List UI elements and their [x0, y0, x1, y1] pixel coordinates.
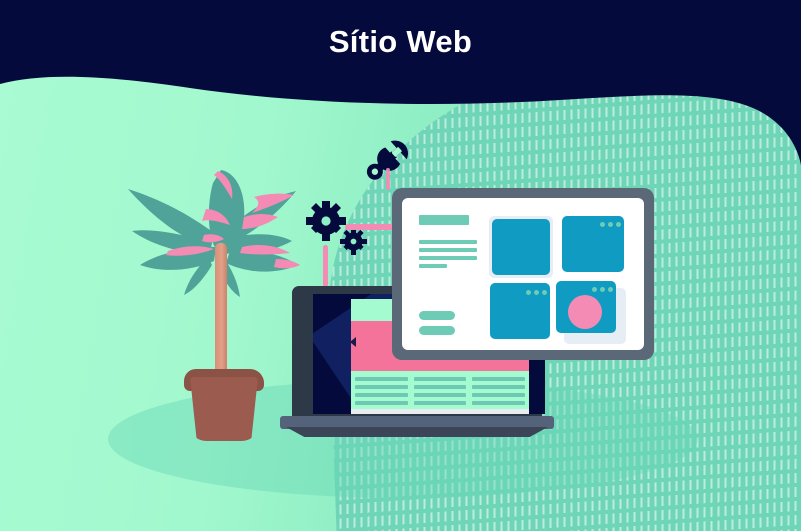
- sidebar-text-line: [419, 240, 477, 244]
- card-dot-icon: [616, 222, 621, 227]
- text-line: [414, 393, 467, 397]
- text-line: [414, 401, 467, 405]
- text-line: [355, 377, 408, 381]
- card-dot-icon: [600, 222, 605, 227]
- sidebar-button[interactable]: [419, 311, 455, 320]
- text-line: [472, 377, 525, 381]
- card-dot-icon: [526, 290, 531, 295]
- card-dot-icon: [542, 290, 547, 295]
- text-line: [472, 385, 525, 389]
- carousel-prev-icon[interactable]: [351, 337, 356, 347]
- content-card-3[interactable]: [490, 283, 550, 339]
- plant-stem: [215, 243, 227, 385]
- sidebar-heading-bar: [419, 215, 469, 225]
- content-card-1[interactable]: [492, 219, 550, 275]
- content-card-2[interactable]: [562, 216, 624, 272]
- illustration-canvas: Sítio Web: [0, 0, 801, 531]
- desktop-monitor: [392, 188, 654, 360]
- webpage-column: [355, 377, 408, 405]
- monitor-screen: [402, 198, 644, 350]
- text-line: [414, 385, 467, 389]
- webpage-columns: [355, 377, 525, 405]
- card-dot-icon: [534, 290, 539, 295]
- connector-line-wrench: [386, 168, 390, 190]
- text-line: [472, 393, 525, 397]
- text-line: [472, 401, 525, 405]
- sidebar-text-line: [419, 264, 447, 268]
- webpage-column: [414, 377, 467, 405]
- card-dot-icon: [600, 287, 605, 292]
- webpage-column: [472, 377, 525, 405]
- gear-icon: [340, 228, 367, 255]
- text-line: [355, 385, 408, 389]
- text-line: [355, 393, 408, 397]
- page-title: Sítio Web: [0, 24, 801, 60]
- card-dot-icon: [608, 287, 613, 292]
- sidebar-text-line: [419, 248, 477, 252]
- card-dot-icon: [592, 287, 597, 292]
- webpage-footer: [351, 409, 529, 414]
- text-line: [355, 401, 408, 405]
- text-line: [414, 377, 467, 381]
- sidebar-text-line: [419, 256, 477, 260]
- card-media-circle: [568, 295, 602, 329]
- connector-line-vertical: [323, 245, 328, 287]
- laptop-base-shadow: [286, 427, 548, 437]
- card-dot-icon: [608, 222, 613, 227]
- sidebar-button[interactable]: [419, 326, 455, 335]
- plant-pot: [190, 377, 258, 441]
